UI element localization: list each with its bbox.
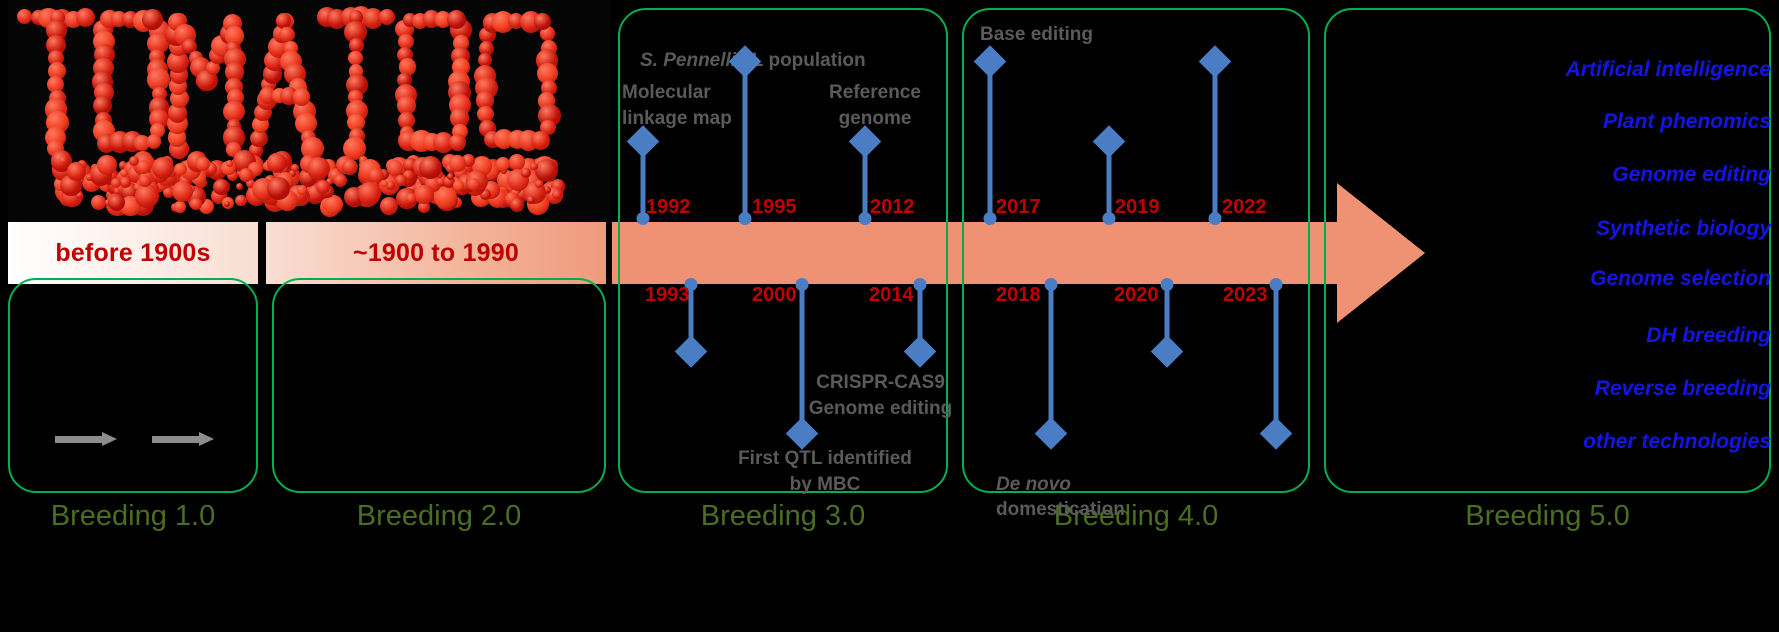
milestone-molecular-linkage-map: Molecular linkage map: [622, 80, 782, 131]
tomato-blob: [91, 195, 106, 210]
tomato-blob: [342, 159, 358, 175]
future-tech-artificial-intelligence: Artificial intelligence: [1566, 58, 1771, 82]
milestone-crispr-cas9: CRISPR-CAS9 Genome editing: [808, 370, 953, 421]
future-tech-genome-editing: Genome editing: [1612, 163, 1771, 187]
panel-breeding-2: [272, 278, 606, 493]
future-tech-dh-breeding: DH breeding: [1646, 324, 1771, 348]
future-tech-genome-selection: Genome selection: [1590, 267, 1771, 291]
tomato-blob: [534, 13, 551, 30]
era-band-1900-1990: ~1900 to 1990: [266, 222, 606, 284]
era-label-1900-1990: ~1900 to 1990: [353, 239, 519, 268]
tomato-blob: [196, 157, 210, 171]
tomato-blob: [535, 159, 558, 182]
grey-arrow-icon-2: [152, 432, 214, 446]
milestone-s-pennellii: S. Pennellii IL population: [640, 22, 950, 73]
tomato-blob: [380, 197, 398, 215]
year-2012: 2012: [870, 196, 915, 219]
year-2014: 2014: [869, 284, 914, 307]
tomato-blob: [449, 155, 466, 172]
tomato-blob: [379, 9, 396, 26]
caption-breeding-5: Breeding 5.0: [1324, 500, 1771, 533]
tomato-blob: [535, 180, 543, 188]
tomato-blob: [395, 175, 406, 186]
tomato-blob: [236, 183, 243, 190]
tomato-blob: [120, 169, 128, 177]
tomato-blob: [406, 193, 417, 204]
tomato-blob: [358, 182, 381, 205]
tomato-blob: [467, 178, 479, 190]
milestone-base-editing: Base editing: [980, 22, 1200, 48]
milestone-de-novo-rest: domestication: [996, 499, 1125, 520]
tomato-blob: [324, 195, 343, 214]
year-1993: 1993: [645, 284, 690, 307]
tomato-blob: [17, 9, 32, 24]
tomato-blob: [235, 195, 246, 206]
tomato-blob: [139, 175, 151, 187]
marker-2018: [1039, 278, 1063, 458]
grey-arrow-icon-1: [55, 432, 117, 446]
year-2019: 2019: [1115, 196, 1160, 219]
future-tech-other-technologies: other technologies: [1583, 430, 1771, 454]
year-2022: 2022: [1222, 196, 1267, 219]
tomato-blob: [135, 184, 159, 208]
era-band-before-1900s: before 1900s: [8, 222, 258, 284]
year-1992: 1992: [646, 196, 691, 219]
future-tech-plant-phenomics: Plant phenomics: [1603, 110, 1771, 134]
tomato-photo: [8, 0, 611, 222]
future-tech-synthetic-biology: Synthetic biology: [1596, 217, 1771, 241]
marker-2020: [1155, 278, 1179, 373]
tomato-blob: [307, 157, 330, 180]
tomato-blob: [531, 131, 550, 150]
tomato-blob: [453, 180, 464, 191]
tomato-blob: [334, 174, 347, 187]
caption-breeding-2: Breeding 2.0: [272, 500, 606, 533]
year-2017: 2017: [996, 196, 1041, 219]
tomato-blob: [137, 160, 151, 174]
milestone-s-pennellii-italic: S. Pennellii: [640, 50, 741, 71]
tomato-blob: [279, 27, 295, 43]
tomato-blob: [509, 154, 525, 170]
tomato-blob: [147, 134, 161, 148]
milestone-reference-genome: Reference genome: [800, 80, 950, 131]
infographic-canvas: before 1900s ~1900 to 1990 Breeding 1.0 …: [0, 0, 1779, 632]
tomato-blob: [527, 196, 535, 204]
caption-breeding-3: Breeding 3.0: [618, 500, 948, 533]
tomato-blob: [496, 157, 510, 171]
panel-breeding-4: [962, 8, 1310, 493]
tomato-blob: [108, 194, 125, 211]
era-label-before-1900s: before 1900s: [55, 239, 210, 268]
tomato-blob: [510, 198, 524, 212]
tomato-blob: [348, 51, 362, 65]
tomato-blob: [76, 8, 95, 27]
milestone-de-novo-italic: De novo: [996, 474, 1071, 495]
tomato-blob: [267, 153, 287, 173]
caption-breeding-1: Breeding 1.0: [8, 500, 258, 533]
year-2018: 2018: [996, 284, 1041, 307]
future-tech-reverse-breeding: Reverse breeding: [1595, 377, 1771, 401]
tomato-blob: [152, 157, 174, 179]
tomato-blob: [447, 173, 454, 180]
tomato-blob: [67, 162, 85, 180]
milestone-de-novo-domestication: De novodomestication: [996, 446, 1216, 523]
panel-breeding-1: [8, 278, 258, 493]
tomato-blob: [293, 88, 311, 106]
tomato-blob: [449, 134, 466, 151]
year-2000: 2000: [752, 284, 797, 307]
tomato-blob: [174, 163, 187, 176]
marker-2023: [1264, 278, 1288, 458]
tomato-blob: [267, 177, 290, 200]
milestone-first-qtl: First QTL identified by MBC: [700, 446, 950, 497]
year-1995: 1995: [752, 196, 797, 219]
tomato-blob: [86, 174, 93, 181]
tomato-blob: [213, 179, 229, 195]
year-2023: 2023: [1223, 284, 1268, 307]
year-2020: 2020: [1114, 284, 1159, 307]
tomato-blob: [414, 185, 433, 204]
tomato-blob: [174, 201, 185, 212]
